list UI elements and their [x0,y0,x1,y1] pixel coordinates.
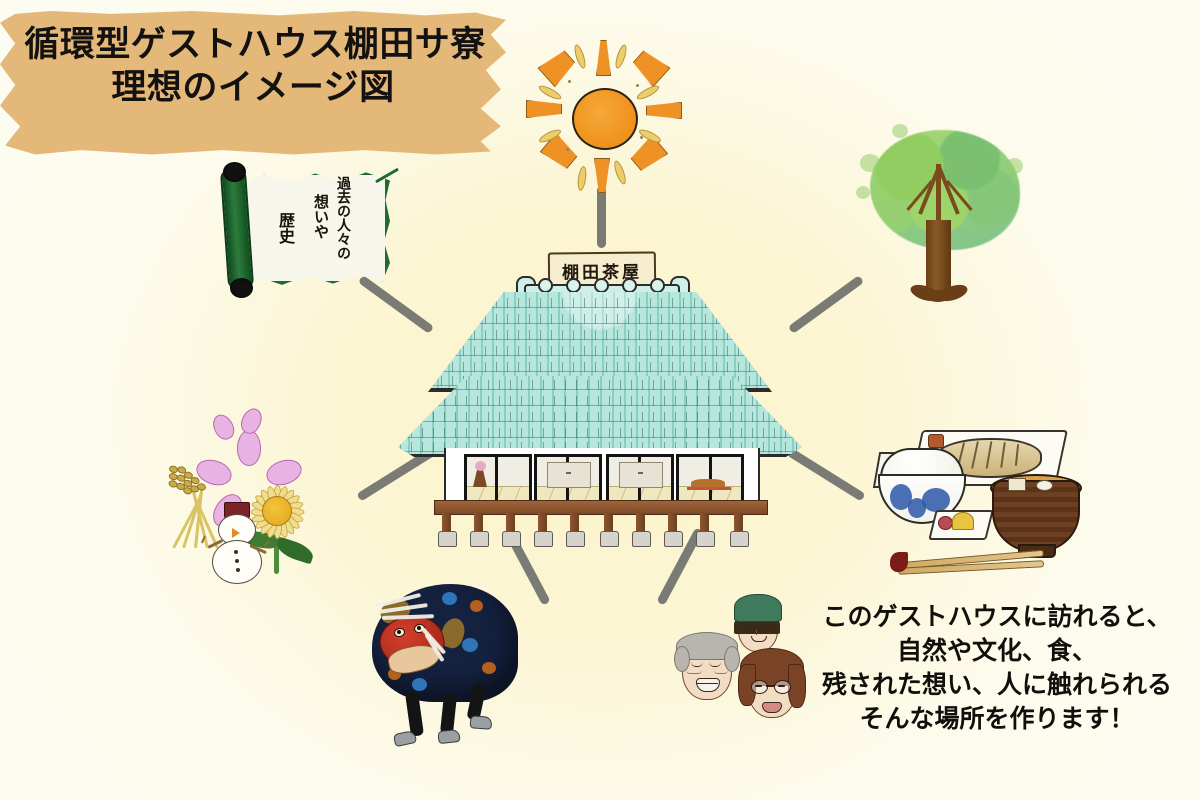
scroll-text-col-2: 想いや [310,194,331,239]
caption-line-3: 残された想い、人に触れられる [800,668,1194,702]
chopstick-rest-icon [890,552,908,572]
house-body [444,448,760,508]
scroll-icon: 過去の人々の 想いや 歴史 [214,160,406,308]
lower-roof [398,376,802,457]
caption-line-2: 自然や文化、食、 [800,634,1194,668]
sun-icon [516,36,686,196]
garnish-icon [928,434,944,448]
pickles-icon [938,516,953,530]
lion-dance-icon [358,580,544,756]
caption-line-1: このゲストハウスに訪れると、 [800,600,1194,634]
snowman-icon [204,502,284,594]
window-panel-2 [534,454,602,504]
tree-icon [856,124,1036,320]
banner-line-1: 循環型ゲストハウス棚田サ寮 [0,24,506,67]
diagram-canvas: 循環型ゲストハウス棚田サ寮 理想のイメージ図 [0,0,1200,800]
window-panel-3 [606,454,674,504]
window-panel-1 [464,454,532,504]
tofu-icon [1008,478,1026,491]
miso-soup-icon [992,480,1080,552]
window-panel-4 [676,454,744,504]
banner-text: 循環型ゲストハウス棚田サ寮 理想のイメージ図 [0,24,506,109]
guesthouse-building: 棚田茶屋 [398,252,802,518]
caption-line-4: そんな場所を作ります！ [800,702,1194,736]
caption-text: このゲストハウスに訪れると、 自然や文化、食、 残された想い、人に触れられる そ… [800,600,1194,736]
title-banner: 循環型ゲストハウス棚田サ寮 理想のイメージ図 [0,8,506,156]
four-seasons-icon [158,408,358,594]
scroll-knob-top [223,162,246,182]
lion-leg-2 [440,693,457,734]
scroll-text-col-1: 過去の人々の [334,176,354,260]
sun-disc [572,88,638,150]
scroll-knob-bottom [230,278,253,298]
japanese-meal-icon [876,418,1086,596]
scroll-text-col-3: 歴史 [272,212,296,244]
woman-glasses-face-icon [734,646,810,728]
house-deck [434,500,768,515]
banner-line-2: 理想のイメージ図 [0,67,506,110]
